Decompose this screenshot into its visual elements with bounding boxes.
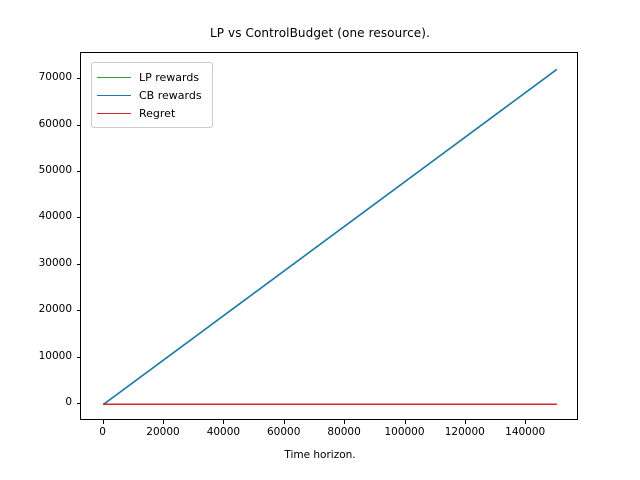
y-tick-mark	[77, 171, 81, 172]
legend-swatch-cb-rewards	[97, 95, 131, 96]
y-tick-label: 30000	[0, 257, 72, 269]
legend-item-cb-rewards: CB rewards	[97, 86, 206, 104]
y-tick-label: 60000	[0, 118, 72, 130]
y-tick-label: 40000	[0, 210, 72, 222]
chart-title: LP vs ControlBudget (one resource).	[0, 26, 640, 40]
y-tick-mark	[77, 264, 81, 265]
legend-item-lp-rewards: LP rewards	[97, 68, 206, 86]
x-tick-mark	[103, 420, 104, 424]
x-tick-mark	[405, 420, 406, 424]
legend-swatch-regret	[97, 113, 131, 114]
x-tick-label: 140000	[475, 426, 575, 438]
y-tick-label: 20000	[0, 303, 72, 315]
x-tick-mark	[163, 420, 164, 424]
legend-label-regret: Regret	[139, 108, 175, 119]
y-tick-mark	[77, 217, 81, 218]
chart-legend: LP rewards CB rewards Regret	[91, 62, 213, 128]
figure-canvas: LP vs ControlBudget (one resource). 0100…	[0, 0, 640, 480]
x-tick-mark	[525, 420, 526, 424]
legend-swatch-lp-rewards	[97, 77, 131, 78]
y-tick-mark	[77, 125, 81, 126]
y-tick-mark	[77, 310, 81, 311]
y-tick-mark	[77, 403, 81, 404]
y-tick-label: 10000	[0, 350, 72, 362]
legend-label-lp-rewards: LP rewards	[139, 72, 199, 83]
y-tick-mark	[77, 78, 81, 79]
y-tick-label: 0	[0, 396, 72, 408]
y-tick-label: 50000	[0, 164, 72, 176]
x-axis-label: Time horizon.	[0, 449, 640, 461]
legend-item-regret: Regret	[97, 104, 206, 122]
x-tick-mark	[223, 420, 224, 424]
legend-label-cb-rewards: CB rewards	[139, 90, 202, 101]
y-tick-label: 70000	[0, 71, 72, 83]
x-tick-mark	[465, 420, 466, 424]
y-tick-mark	[77, 357, 81, 358]
x-tick-mark	[344, 420, 345, 424]
x-tick-mark	[284, 420, 285, 424]
